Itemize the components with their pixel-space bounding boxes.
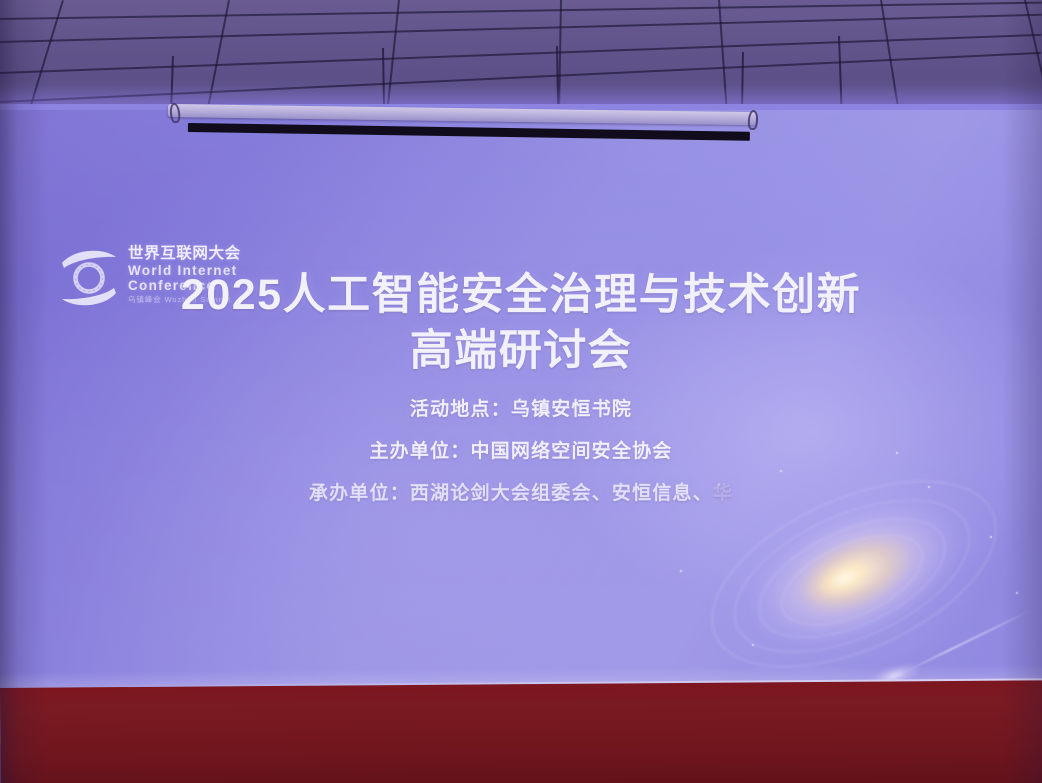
red-carpet-floor: [0, 680, 1042, 783]
ceiling-grid-line: [0, 52, 1041, 103]
ceiling-grid-line: [1024, 0, 1042, 112]
slide-meta-organizer-faint: 华: [713, 483, 733, 504]
slide-title: 2025人工智能安全治理与技术创新 高端研讨会: [0, 268, 1042, 380]
conference-room-photo: 世界互联网大会 World Internet Conference 乌镇峰会 W…: [0, 0, 1042, 783]
star-speck: [752, 644, 754, 646]
star-speck: [990, 536, 992, 538]
slide-meta-organizer: 承办单位：西湖论剑大会组委会、安恒信息、华: [0, 484, 1042, 503]
slide-title-line-2: 高端研讨会: [0, 324, 1042, 380]
slide-meta-block: 活动地点：乌镇安恒书院 主办单位：中国网络空间安全协会 承办单位：西湖论剑大会组…: [0, 400, 1042, 526]
ceiling: [0, 0, 1042, 112]
galaxy-arm: [768, 516, 936, 644]
star-speck: [1016, 592, 1018, 594]
star-speck: [680, 570, 682, 572]
ceiling-grid-line: [204, 0, 230, 112]
screen-hanging-wire: [170, 56, 174, 108]
ceiling-grid-line: [0, 34, 1041, 74]
projected-slide: 世界互联网大会 World Internet Conference 乌镇峰会 W…: [0, 110, 1042, 718]
ceiling-grid-line: [558, 0, 562, 112]
screen-hanging-wire: [838, 36, 842, 106]
galaxy-core: [797, 540, 893, 615]
slide-title-line-1: 2025人工智能安全治理与技术创新: [0, 268, 1042, 324]
galaxy-star-stream: [905, 609, 1032, 672]
slide-meta-venue: 活动地点：乌镇安恒书院: [0, 400, 1042, 419]
slide-meta-organizer-text: 承办单位：西湖论剑大会组委会、安恒信息、: [309, 483, 713, 504]
screen-hanging-wire: [741, 52, 744, 110]
ceiling-grid-line: [385, 0, 400, 112]
wic-logo-cn: 世界互联网大会: [128, 246, 241, 263]
slide-meta-host: 主办单位：中国网络空间安全协会: [0, 442, 1042, 461]
ceiling-grid-line: [718, 0, 729, 112]
